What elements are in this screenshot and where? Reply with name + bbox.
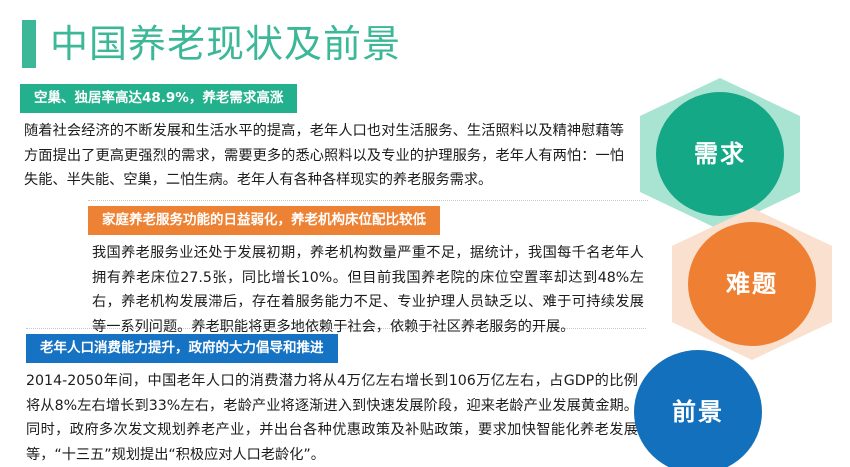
section-3-body-text: 2014-2050年间，中国老年人口的消费潜力将从4万亿左右增长到106万亿左右… (26, 369, 638, 467)
slide-canvas: 中国养老现状及前景 空巢、独居率高达48.9%，养老需求高涨 随着社会经济的不断… (0, 0, 850, 467)
circle-shape-orange: 难题 (688, 222, 816, 346)
badge-demand-label: 需求 (694, 142, 746, 166)
section-3-heading-bar: 老年人口消费能力提升，政府的大力倡导和推进 (26, 334, 338, 363)
section-problem: 家庭养老服务功能的日益弱化，养老机构床位配比较低 我国养老服务业还处于发展初期，… (88, 206, 648, 339)
page-title: 中国养老现状及前景 (22, 16, 401, 72)
section-2-heading-bar: 家庭养老服务功能的日益弱化，养老机构床位配比较低 (88, 206, 440, 235)
title-accent-bar (22, 20, 36, 68)
section-divider-1 (88, 200, 648, 201)
badge-prospect-label: 前景 (672, 400, 724, 424)
section-1-body-text: 随着社会经济的不断发展和生活水平的提高，老年人口也对生活服务、生活照料以及精神慰… (20, 119, 624, 193)
circle-shape-blue: 前景 (634, 350, 762, 467)
section-demand: 空巢、独居率高达48.9%，养老需求高涨 随着社会经济的不断发展和生活水平的提高… (20, 84, 632, 193)
badge-problem-label: 难题 (726, 272, 778, 296)
title-text: 中国养老现状及前景 (50, 21, 401, 67)
section-prospect: 老年人口消费能力提升，政府的大力倡导和推进 2014-2050年间，中国老年人口… (26, 334, 646, 467)
section-2-body-text: 我国养老服务业还处于发展初期，养老机构数量严重不足，据统计，我国每千名老年人拥有… (88, 241, 644, 339)
badge-prospect: 前景 (620, 338, 776, 467)
section-1-heading-bar: 空巢、独居率高达48.9%，养老需求高涨 (20, 84, 297, 113)
circle-shape-green: 需求 (656, 92, 784, 216)
